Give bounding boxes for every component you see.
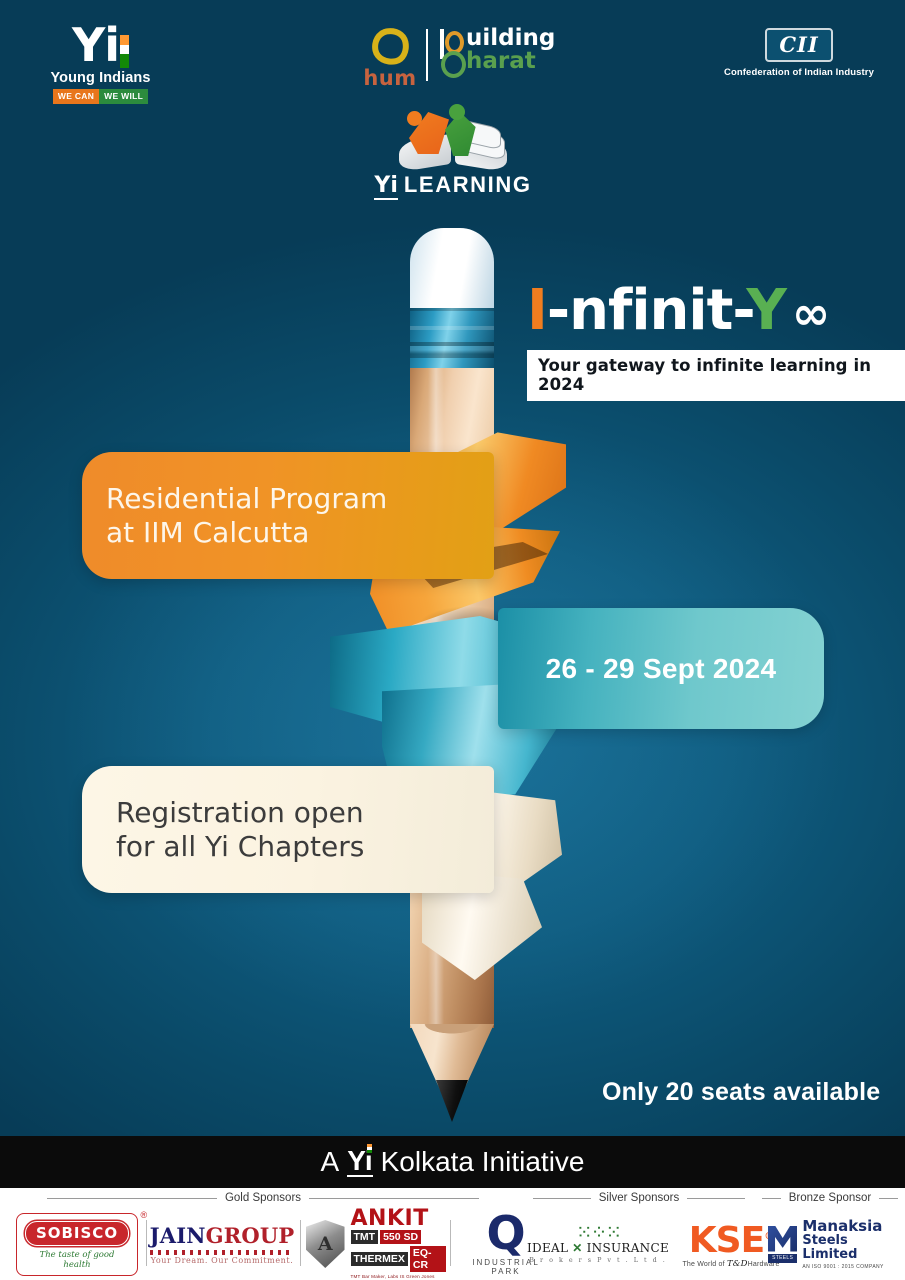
we-will-label: WE WILL (99, 89, 148, 104)
cii-logo: CII Confederation of Indian Industry (724, 28, 874, 78)
hum-ring-icon (368, 25, 412, 69)
open-book-figures-icon (393, 108, 513, 170)
kse-tagline-em: T&D (727, 1259, 748, 1269)
banner-registration-text: Registration open for all Yi Chapters (116, 796, 364, 863)
initiative-suffix: Kolkata Initiative (381, 1146, 585, 1178)
ideal-insurance-name: IDEAL ✕ INSURANCE (527, 1241, 669, 1255)
hum-label: hum (358, 66, 422, 90)
sponsor-logos-row: SOBISCO The taste of good health ® JAING… (0, 1210, 905, 1278)
yi-monogram-icon: Yi (72, 22, 129, 68)
kse-letters: KSE (689, 1220, 764, 1261)
pencil-ferrule (410, 308, 494, 370)
tricolor-dot-icon (367, 1144, 372, 1153)
tree-icon: ⁙⁘⁙ (527, 1225, 669, 1241)
young-indians-logo: Yi Young Indians WE CANWE WILL (33, 22, 168, 104)
ankit-shield-icon: A (306, 1220, 345, 1268)
ideal-glyph-icon: ✕ (572, 1241, 582, 1255)
ideal-insurance-sub: B r o k e r s P v t . L t d . (527, 1256, 669, 1264)
silver-sponsors-heading: Silver Sponsors (524, 1192, 754, 1204)
dotted-rule (150, 1250, 295, 1255)
sponsor-divider (146, 1220, 147, 1266)
infinity-icon: ∞ (792, 286, 829, 340)
initiative-bar: A Yi Kolkata Initiative (0, 1136, 905, 1188)
hum-building-bharat-logo: hum uilding harat (358, 25, 558, 95)
seats-availability-note: Only 20 seats available (602, 1078, 880, 1107)
gold-sponsors-label: Gold Sponsors (225, 1192, 301, 1204)
tricolor-bar-icon (120, 35, 129, 68)
sponsor-logo-ankit-tmt: A ANKIT TMT 550 SD THERMEX EQ-CR TMT Bar… (306, 1212, 446, 1276)
manaksia-wordmark: Manaksia Steels Limited AN ISO 9001 : 20… (802, 1219, 893, 1270)
banner-residential-line2: at IIM Calcutta (106, 516, 387, 550)
yi-monogram-letter: Yi (72, 18, 119, 72)
title-part-i: I (527, 278, 547, 343)
bronze-sponsor-label: Bronze Sponsor (789, 1192, 871, 1204)
sponsor-logo-jain-group: JAINGROUP Your Dream. Our Commitment. (152, 1212, 292, 1276)
building-bharat-mark: uilding harat (438, 25, 555, 73)
bharat-label: harat (466, 49, 555, 73)
sponsor-logo-manaksia-steels: STEELS Manaksia Steels Limited AN ISO 90… (768, 1212, 893, 1276)
we-can-label: WE CAN (53, 89, 99, 104)
sobisco-tagline: The taste of good health (25, 1250, 129, 1270)
yi-learning-wordmark: YiLEARNING (373, 172, 533, 198)
banner-registration-line1: Registration open (116, 796, 364, 830)
kse-mark: KSE® The World of T&DHardware (682, 1220, 779, 1269)
rule-right (309, 1198, 479, 1199)
kse-tagline-pre: The World of (682, 1261, 724, 1268)
b-infinity-icon (438, 29, 468, 83)
initiative-prefix: A (321, 1146, 340, 1178)
building-label: uilding (466, 27, 555, 49)
banner-residential-text: Residential Program at IIM Calcutta (106, 482, 387, 549)
manaksia-certification: AN ISO 9001 : 2015 COMPANY (802, 1264, 893, 1270)
we-can-we-will-badge: WE CANWE WILL (33, 89, 168, 104)
pencil-illustration (404, 228, 500, 1118)
gold-sponsors-heading: Gold Sponsors (18, 1192, 508, 1204)
sponsors-strip: Gold Sponsors Silver Sponsors Bronze Spo… (0, 1188, 905, 1280)
event-title: I-nfinit-Y∞ (527, 282, 905, 342)
sponsor-divider (450, 1220, 451, 1266)
sponsor-logo-ideal-insurance: ⁙⁘⁙ IDEAL ✕ INSURANCE B r o k e r s P v … (528, 1212, 668, 1276)
manaksia-steels-badge: STEELS (768, 1254, 797, 1263)
jain-group-mark: JAINGROUP Your Dream. Our Commitment. (150, 1223, 295, 1265)
manaksia-subname: Steels Limited (802, 1234, 893, 1262)
manaksia-m-icon: STEELS (768, 1226, 797, 1263)
banner-residential-program: Residential Program at IIM Calcutta (82, 452, 494, 579)
rule-left (762, 1198, 781, 1199)
insurance-word: INSURANCE (587, 1241, 669, 1255)
registered-mark-icon: ® (140, 1210, 147, 1220)
ankit-wordmark: ANKIT TMT 550 SD THERMEX EQ-CR TMT Bar M… (351, 1209, 446, 1279)
young-indians-label: Young Indians (33, 70, 168, 86)
group-word: GROUP (206, 1223, 295, 1248)
jain-group-name: JAINGROUP (150, 1223, 295, 1248)
ankit-mark: A ANKIT TMT 550 SD THERMEX EQ-CR TMT Bar… (306, 1209, 446, 1279)
ankit-line3: THERMEX EQ-CR (351, 1246, 446, 1272)
ankit-tmt-label: TMT (351, 1230, 379, 1244)
event-tagline: Your gateway to infinite learning in 202… (527, 350, 905, 401)
rule-left (47, 1198, 217, 1199)
title-part-mid: -nfinit- (547, 278, 747, 343)
sponsor-divider (300, 1220, 301, 1266)
logo-divider (426, 29, 428, 81)
banner-registration-line2: for all Yi Chapters (116, 830, 364, 864)
banner-residential-line1: Residential Program (106, 482, 387, 516)
ideal-insurance-mark: ⁙⁘⁙ IDEAL ✕ INSURANCE B r o k e r s P v … (527, 1225, 669, 1264)
pencil-graphite-tip (436, 1080, 468, 1122)
rule-right (687, 1198, 745, 1199)
yi-learning-word: LEARNING (404, 172, 532, 197)
yi-learning-logo: YiLEARNING (373, 108, 533, 198)
ankit-line2: TMT 550 SD (351, 1230, 446, 1244)
cii-mark-icon: CII (765, 28, 832, 62)
poster-root: Yi Young Indians WE CANWE WILL hum uildi… (0, 0, 905, 1280)
banner-registration-open: Registration open for all Yi Chapters (82, 766, 494, 893)
ankit-name: ANKIT (351, 1209, 446, 1229)
initiative-yi-mark: Yi (347, 1147, 372, 1177)
kse-tagline: The World of T&DHardware (682, 1259, 779, 1269)
event-title-block: I-nfinit-Y∞ Your gateway to infinite lea… (527, 282, 905, 401)
banner-dates-text: 26 - 29 Sept 2024 (546, 652, 777, 686)
sobisco-name: SOBISCO (25, 1221, 129, 1246)
initiative-text: A Yi Kolkata Initiative (321, 1146, 585, 1178)
bronze-sponsor-heading: Bronze Sponsor (762, 1192, 898, 1204)
pencil-eraser (410, 228, 494, 320)
ideal-word: IDEAL (527, 1241, 568, 1255)
ankit-fine-print: TMT Bar Maker, Labs IS Green Jones (351, 1274, 446, 1279)
rule-right (879, 1198, 898, 1199)
ankit-thermex-label: THERMEX (351, 1252, 408, 1266)
silver-sponsors-label: Silver Sponsors (599, 1192, 680, 1204)
cii-mark-label: CII (779, 32, 818, 57)
hum-mark: hum (358, 25, 422, 90)
title-part-y: Y (746, 278, 786, 343)
sobisco-frame: SOBISCO The taste of good health ® (16, 1213, 138, 1276)
manaksia-mark: STEELS Manaksia Steels Limited AN ISO 90… (768, 1219, 893, 1270)
sponsor-logo-sobisco: SOBISCO The taste of good health ® (16, 1212, 138, 1276)
kse-name: KSE® (682, 1220, 779, 1258)
sponsor-headings: Gold Sponsors Silver Sponsors Bronze Spo… (0, 1188, 905, 1210)
manaksia-name: Manaksia (802, 1219, 893, 1234)
cii-subtitle: Confederation of Indian Industry (724, 67, 874, 78)
yi-learning-yi: Yi (374, 173, 397, 200)
ankit-grade-label: 550 SD (380, 1230, 421, 1244)
rule-left (533, 1198, 591, 1199)
jain-group-tagline: Your Dream. Our Commitment. (150, 1256, 295, 1265)
ankit-eqcr-label: EQ-CR (410, 1246, 446, 1272)
banner-event-dates: 26 - 29 Sept 2024 (498, 608, 824, 729)
jain-word: JAIN (150, 1223, 206, 1248)
header-logos: Yi Young Indians WE CANWE WILL hum uildi… (0, 0, 905, 200)
